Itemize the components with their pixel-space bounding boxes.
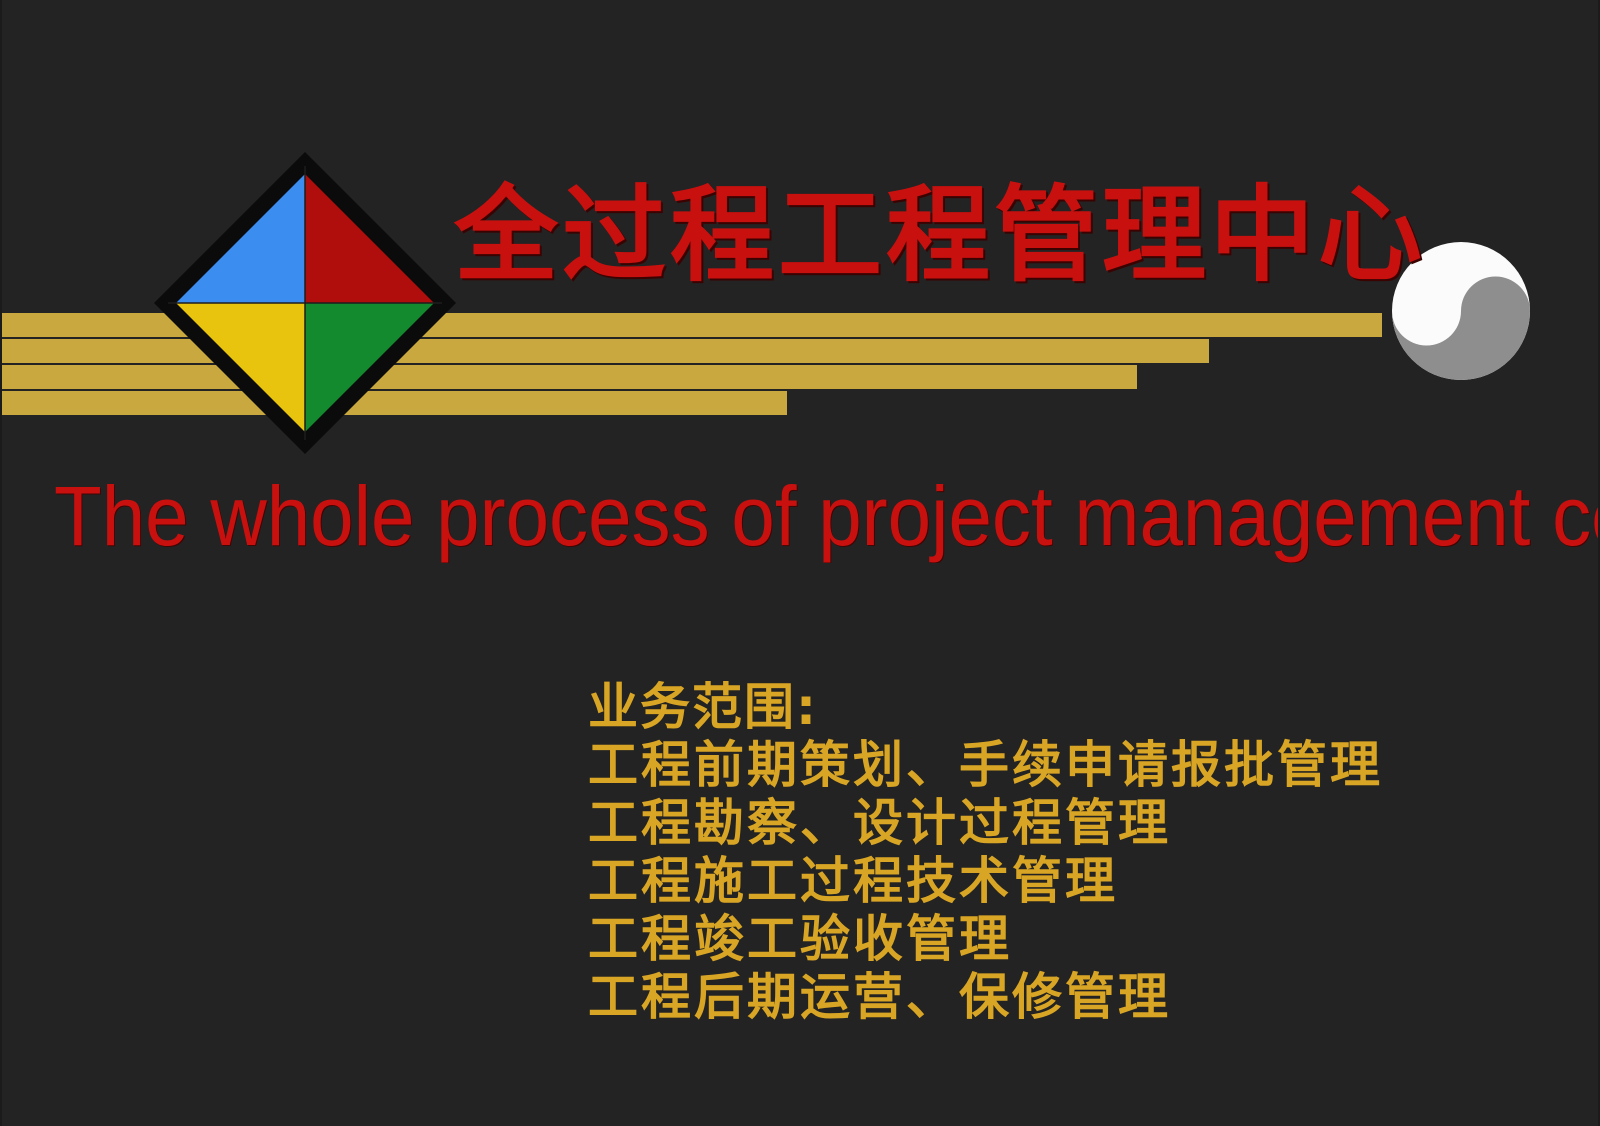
diamond-quadrant-right xyxy=(305,303,434,432)
business-scope-item-1: 工程前期策划、手续申请报批管理 xyxy=(588,738,1548,792)
diamond-quadrant-top xyxy=(305,174,434,303)
diamond-quadrant-left xyxy=(176,174,305,303)
business-scope-item-5: 工程后期运营、保修管理 xyxy=(588,970,1548,1024)
slide-title-chinese: 全过程工程管理中心 xyxy=(454,176,1354,298)
four-color-diamond-logo xyxy=(150,148,460,458)
diamond-quadrant-bottom xyxy=(176,303,305,432)
business-scope-item-2: 工程勘察、设计过程管理 xyxy=(588,796,1548,850)
presentation-slide: 全过程工程管理中心 The whole process of project m… xyxy=(0,0,1600,1126)
business-scope-item-4: 工程竣工验收管理 xyxy=(588,912,1548,966)
slide-subtitle-english: The whole process of project management … xyxy=(54,468,1440,564)
business-scope-block: 业务范围: 工程前期策划、手续申请报批管理 工程勘察、设计过程管理 工程施工过程… xyxy=(588,680,1548,1028)
business-scope-heading: 业务范围: xyxy=(588,680,1548,734)
business-scope-item-3: 工程施工过程技术管理 xyxy=(588,854,1548,908)
